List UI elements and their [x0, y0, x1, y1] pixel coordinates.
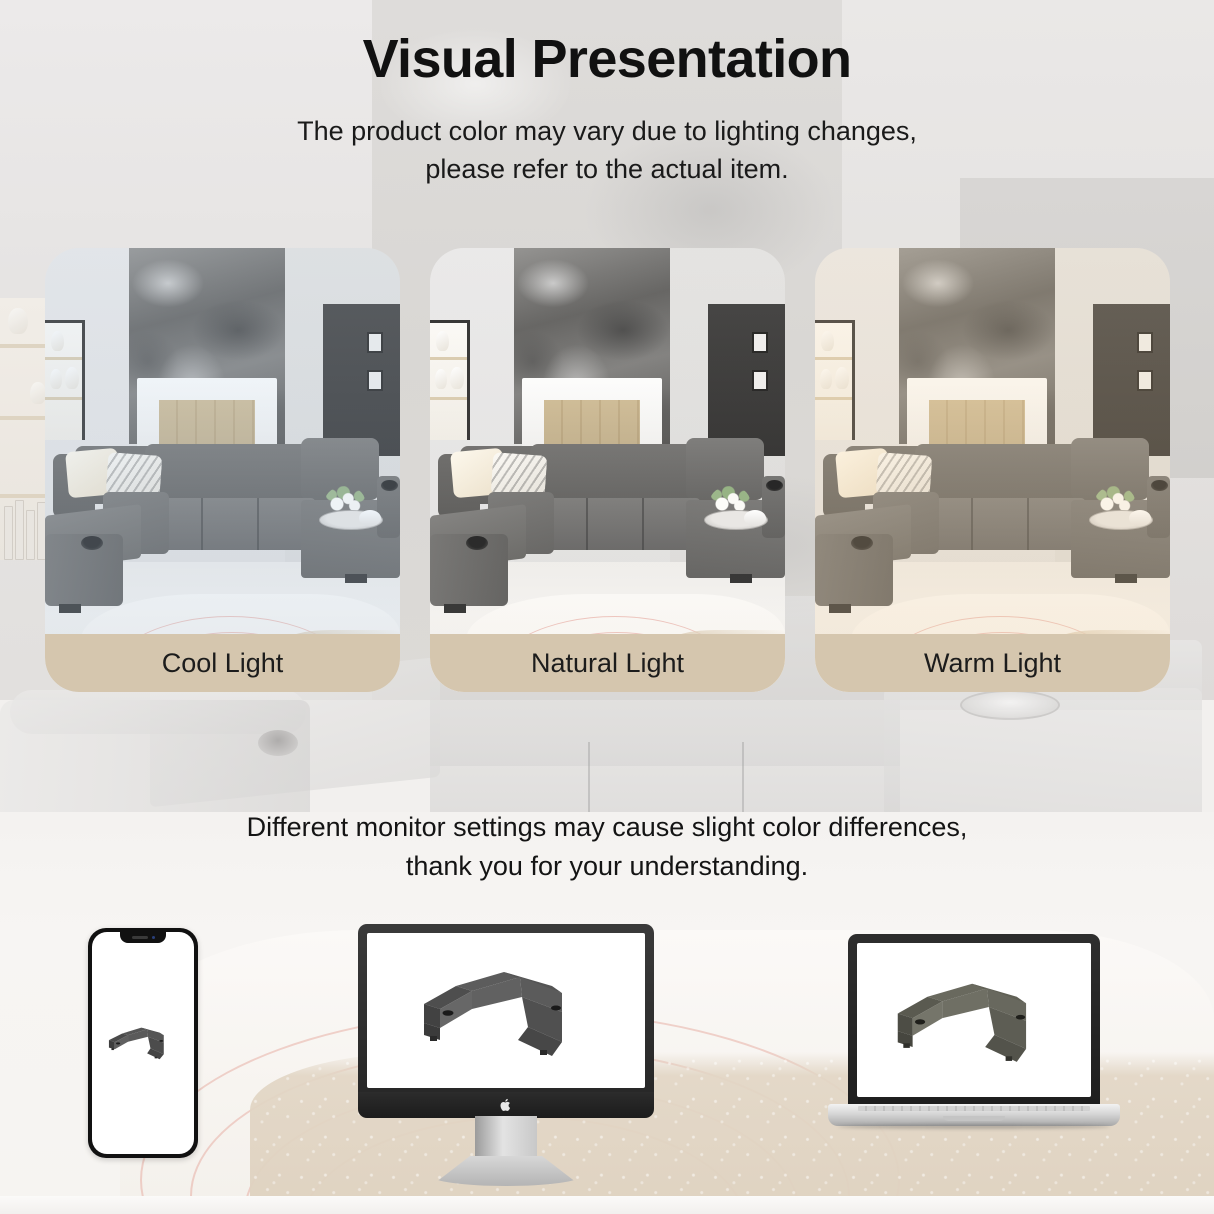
doorway [323, 304, 400, 456]
visual-presentation-graphic: Visual Presentation The product color ma… [0, 0, 1214, 1214]
monitor-screen [367, 933, 645, 1088]
panel-warm-light: Warm Light [815, 248, 1170, 692]
apple-logo-icon [500, 1098, 512, 1112]
bookshelf [430, 320, 470, 440]
cup-holder-left [851, 536, 873, 550]
panel-label-cool: Cool Light [45, 634, 400, 692]
cup-holder-left [466, 536, 488, 550]
doorway [708, 304, 785, 456]
teacup [744, 510, 766, 526]
teacup [1129, 510, 1151, 526]
panel-cool-light: Cool Light [45, 248, 400, 692]
cup-holder-left [81, 536, 103, 550]
room-scene-cool [45, 248, 400, 692]
room-scene-natural [430, 248, 785, 692]
phone-notch [120, 932, 166, 943]
light-comparison-panels: Cool Light [0, 248, 1214, 692]
laptop-lid [848, 934, 1100, 1106]
monitor-bezel [358, 924, 654, 1106]
sofa-seat [530, 498, 700, 550]
bookshelf [815, 320, 855, 440]
header-block: Visual Presentation The product color ma… [0, 0, 1214, 189]
sofa-backrest [530, 444, 700, 502]
teacup [359, 510, 381, 526]
product-image-sofa-phone [101, 1016, 185, 1070]
striped-pillow [876, 452, 933, 498]
footer-line-2: thank you for your understanding. [0, 847, 1214, 886]
cup-holder-right [1151, 480, 1168, 491]
bookshelf [45, 320, 85, 440]
panel-natural-light: Natural Light [430, 248, 785, 692]
speaker-icon [132, 936, 148, 939]
monitor-stand-base [431, 1156, 581, 1186]
subtitle-line-2: please refer to the actual item. [0, 150, 1214, 188]
background-cup-holder [258, 730, 298, 756]
fireplace-stone-insert [544, 400, 640, 450]
laptop-trackpad-notch [943, 1116, 1005, 1121]
page-subtitle: The product color may vary due to lighti… [0, 112, 1214, 189]
room-scene-warm [815, 248, 1170, 692]
product-image-sofa-laptop [881, 959, 1067, 1081]
laptop-shadow [838, 1124, 1110, 1129]
panel-label-natural: Natural Light [430, 634, 785, 692]
device-mockups [0, 900, 1214, 1214]
product-image-sofa-monitor [406, 946, 606, 1076]
front-camera-icon [152, 936, 155, 939]
footer-disclaimer: Different monitor settings may cause sli… [0, 808, 1214, 886]
smartphone-mockup [88, 928, 198, 1158]
page-title: Visual Presentation [0, 28, 1214, 90]
panel-label-warm: Warm Light [815, 634, 1170, 692]
sofa-backrest [145, 444, 315, 502]
monitor-stand-neck [475, 1116, 537, 1158]
sofa-seat [145, 498, 315, 550]
cup-holder-right [381, 480, 398, 491]
fireplace-stone-insert [929, 400, 1025, 450]
striped-pillow [106, 452, 163, 498]
phone-screen [92, 932, 194, 1154]
fireplace-stone-insert [159, 400, 255, 450]
sofa-seat [915, 498, 1085, 550]
doorway [1093, 304, 1170, 456]
laptop-mockup [828, 934, 1120, 1146]
cup-holder-right [766, 480, 783, 491]
striped-pillow [491, 452, 548, 498]
sofa-backrest [915, 444, 1085, 502]
desktop-monitor-mockup [358, 924, 654, 1162]
laptop-keyboard [858, 1106, 1090, 1111]
monitor-chin [358, 1092, 654, 1118]
laptop-screen [857, 943, 1091, 1097]
subtitle-line-1: The product color may vary due to lighti… [0, 112, 1214, 150]
background-serving-tray [960, 690, 1060, 720]
footer-line-1: Different monitor settings may cause sli… [0, 808, 1214, 847]
